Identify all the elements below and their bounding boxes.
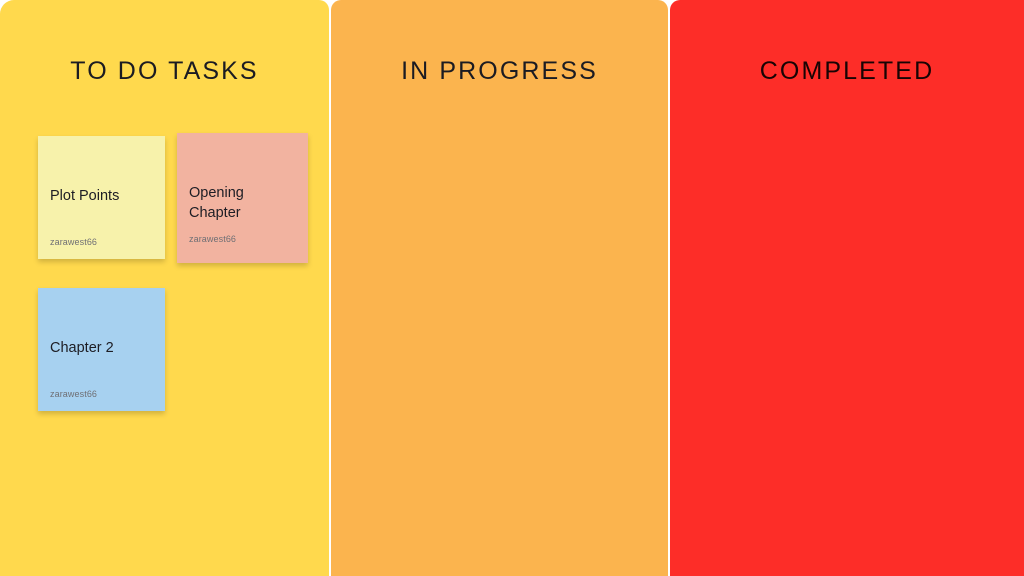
- card-owner: zarawest66: [189, 234, 236, 244]
- column-title-todo: TO DO TASKS: [0, 57, 329, 86]
- kanban-card-opening-chapter[interactable]: Opening Chapter zarawest66: [177, 133, 308, 263]
- card-title: Opening Chapter: [189, 183, 298, 223]
- kanban-column-in-progress: IN PROGRESS Outline of Book zarawest66: [331, 0, 668, 576]
- kanban-column-todo: TO DO TASKS Plot Points zarawest66 Openi…: [0, 0, 329, 576]
- kanban-card-plot-points[interactable]: Plot Points zarawest66: [38, 136, 165, 259]
- card-title: Chapter 2: [50, 338, 155, 358]
- column-title-completed: COMPLETED: [670, 57, 1024, 86]
- kanban-board: TO DO TASKS Plot Points zarawest66 Openi…: [0, 0, 1024, 576]
- card-owner: zarawest66: [50, 237, 97, 247]
- kanban-column-completed: COMPLETED Logline zarawest66 Blurb zaraw…: [670, 0, 1024, 576]
- card-title: Plot Points: [50, 186, 155, 206]
- kanban-card-chapter-2[interactable]: Chapter 2 zarawest66: [38, 288, 165, 411]
- card-owner: zarawest66: [50, 389, 97, 399]
- column-title-in-progress: IN PROGRESS: [331, 57, 668, 86]
